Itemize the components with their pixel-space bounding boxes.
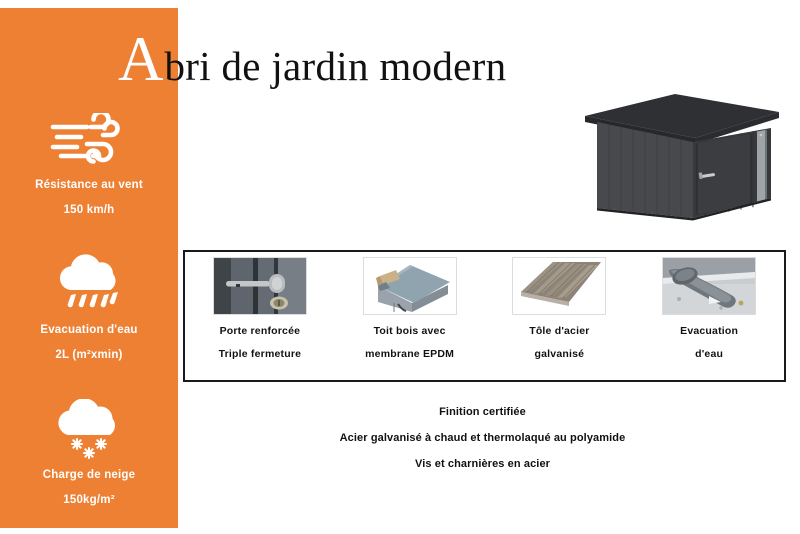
- product-infographic-page: Résistance au vent 150 km/h Evacuation d…: [0, 0, 800, 534]
- feature-highlights-box: Porte renforcée Triple fermeture: [183, 250, 786, 382]
- feature-card-roof-line2: membrane EPDM: [365, 348, 454, 360]
- spec-wind-title: Résistance au vent: [0, 179, 178, 191]
- certification-block: Finition certifiée Acier galvanisé à cha…: [183, 406, 782, 470]
- feature-card-door-line2: Triple fermeture: [219, 348, 302, 360]
- spec-snow-value: 150kg/m²: [0, 494, 178, 506]
- page-title-rest: bri de jardin modern: [165, 46, 507, 87]
- feature-card-steel-line1: Tôle d'acier: [529, 325, 589, 337]
- feature-card-roof: Toit bois avec membrane EPDM: [335, 252, 485, 380]
- feature-card-roof-line1: Toit bois avec: [374, 325, 446, 337]
- spec-water-value: 2L (m²xmin): [0, 349, 178, 361]
- rain-cloud-icon: [0, 253, 178, 315]
- snow-cloud-icon: [0, 398, 178, 460]
- spec-snow-load: Charge de neige 150kg/m²: [0, 398, 178, 506]
- certification-line-2: Acier galvanisé à chaud et thermolaqué a…: [183, 432, 782, 444]
- certification-line-1: Finition certifiée: [183, 406, 782, 418]
- spec-wind-value: 150 km/h: [0, 204, 178, 216]
- feature-card-steel: Tôle d'acier galvanisé: [485, 252, 635, 380]
- epdm-roof-photo: [363, 257, 457, 315]
- reinforced-door-photo: [213, 257, 307, 315]
- spec-water-drainage: Evacuation d'eau 2L (m²xmin): [0, 253, 178, 361]
- feature-card-steel-line2: galvanisé: [535, 348, 585, 360]
- spec-water-title: Evacuation d'eau: [0, 324, 178, 336]
- wind-icon: [0, 108, 178, 170]
- corrugated-steel-photo: [512, 257, 606, 315]
- certification-line-3: Vis et charnières en acier: [183, 458, 782, 470]
- garden-shed-photo: [575, 86, 787, 236]
- water-drain-photo: [662, 257, 756, 315]
- spec-wind-resistance: Résistance au vent 150 km/h: [0, 108, 178, 216]
- spec-snow-title: Charge de neige: [0, 469, 178, 481]
- feature-card-door-line1: Porte renforcée: [220, 325, 301, 337]
- page-title-initial: A: [118, 28, 164, 91]
- feature-card-drain-line2: d'eau: [695, 348, 723, 360]
- page-title: A bri de jardin modern: [118, 28, 506, 90]
- feature-card-door: Porte renforcée Triple fermeture: [185, 252, 335, 380]
- feature-card-drain: Evacuation d'eau: [634, 252, 784, 380]
- feature-card-drain-line1: Evacuation: [680, 325, 738, 337]
